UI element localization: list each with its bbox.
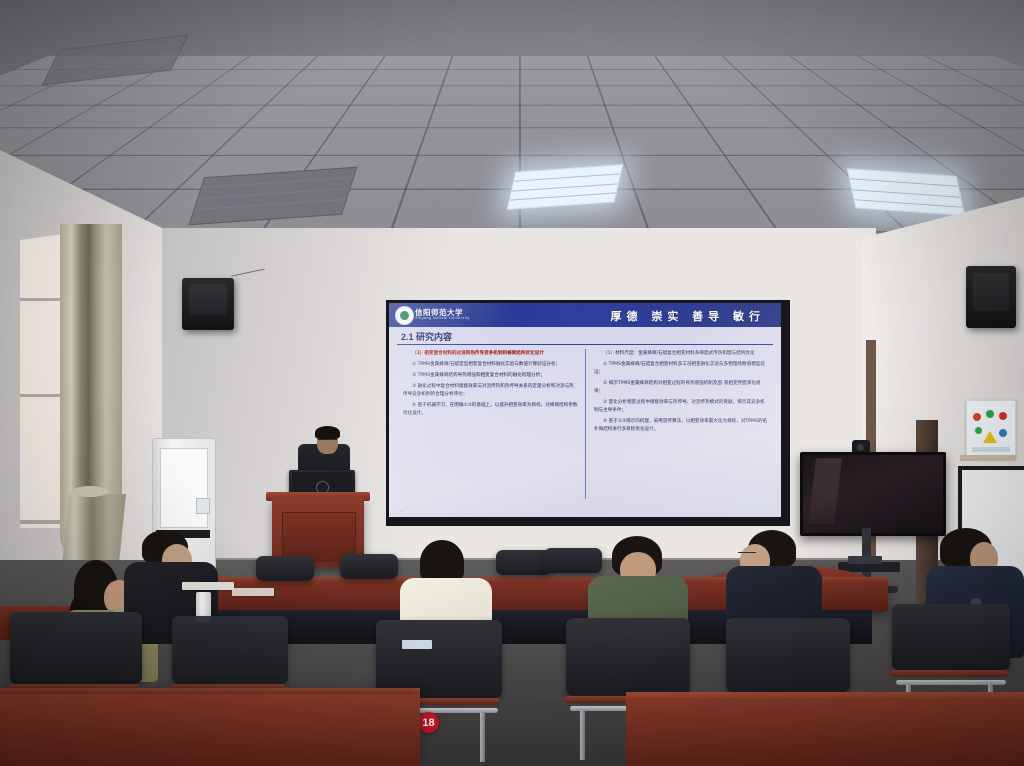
slide-footer: ... xyxy=(399,508,402,513)
slide-paragraph: ② TPMS金属蜂窝结构导热增强和相变复合材料的融化机理分析； xyxy=(403,372,578,380)
sign-text-block xyxy=(972,447,1010,452)
glasses-icon xyxy=(738,552,756,557)
slide-paragraph: ③ 融化过程中复合材料储能效率与对流传热和热传导关系的定量分析和对流与热传导竞争… xyxy=(403,383,578,399)
safety-icon-green xyxy=(986,410,994,418)
sign-shelf xyxy=(960,455,1016,461)
foreground-table-right xyxy=(626,698,1024,766)
av-equipment-box xyxy=(848,556,882,564)
ceiling-light-on xyxy=(507,164,623,209)
slide-paragraph: （1）材料尺度：金属蜂窝/石蜡复合相变材料多梯度式传热机理与结构优化 xyxy=(594,350,769,358)
chair-label-tag xyxy=(402,640,432,649)
university-subname: Xinyang Normal University xyxy=(415,316,470,320)
slide-paragraph: ① TPMS金属蜂窝/石蜡定型相变复合材料融化实验与数值计算验证分析； xyxy=(403,361,578,369)
slide-title-rule xyxy=(397,329,773,345)
university-motto: 厚德 崇实 善导 敏行 xyxy=(611,308,766,324)
air-conditioner-display xyxy=(196,498,210,514)
slide-columns: （1）相变复合材料的对流和热传导竞争机制和蜂窝结构优化设计 ① TPMS金属蜂窝… xyxy=(399,347,773,507)
slide-paragraph: ④ 基于②③揭示的机理，采用遗传算法，以相变效率最大化为目标，对TPMS的拓扑微… xyxy=(594,418,769,434)
wall-speaker-right xyxy=(966,266,1016,328)
presenter-hair xyxy=(315,426,340,439)
papers[interactable] xyxy=(182,582,234,590)
presenter-glasses-icon xyxy=(318,439,337,444)
slide-paragraph: ② 揭示TPMS金属蜂窝结构对相变过程的导热增强机制及固-液相变界面演化规律； xyxy=(594,380,769,396)
safety-icon-red2 xyxy=(999,412,1007,420)
slide-paragraph: ① TPMS金属蜂窝/石蜡复合相变材料多工况相变融化实验与多物理场数值模型验证； xyxy=(594,361,769,377)
warning-triangle-icon xyxy=(983,431,997,443)
slide-left-column: （1）相变复合材料的对流和热传导竞争机制和蜂窝结构优化设计 ① TPMS金属蜂窝… xyxy=(399,347,582,507)
papers[interactable] xyxy=(232,588,274,596)
slide-right-column: （1）材料尺度：金属蜂窝/石蜡复合相变材料多梯度式传热机理与结构优化 ① TPM… xyxy=(590,347,773,507)
slide-section-title: 2.1 研究内容 xyxy=(401,330,452,343)
safety-icon-blue xyxy=(999,429,1007,437)
air-conditioner-panel xyxy=(160,448,208,528)
chair-empty[interactable] xyxy=(340,554,398,594)
wall-speaker-left xyxy=(182,278,234,330)
slide-paragraph: ④ 基于机器学习，在明确①③的基础上，以提升相变效率为目标，对蜂窝结构参数优化设… xyxy=(403,402,578,418)
ceiling-light-on xyxy=(847,168,965,216)
conference-room-photo: 信阳师范大学 Xinyang Normal University 厚德 崇实 善… xyxy=(0,0,1024,766)
chair-number-badge: 18 xyxy=(418,712,439,733)
foreground-table-left xyxy=(0,694,420,766)
safety-icon-red xyxy=(973,413,981,421)
slide-paragraph: （1）相变复合材料的对流和热传导竞争机制和蜂窝结构优化设计 xyxy=(403,350,578,358)
university-logo-icon xyxy=(395,306,414,325)
curtain-tieback xyxy=(72,486,108,497)
safety-icon-green2 xyxy=(975,427,982,434)
safety-sign xyxy=(966,400,1016,458)
slide-paragraph: ③ 量化分析相变过程中储能效率与热传导、对流传热模式的贡献，揭示其竞争机制与主导… xyxy=(594,399,769,415)
presentation-slide[interactable]: 信阳师范大学 Xinyang Normal University 厚德 崇实 善… xyxy=(389,303,781,517)
